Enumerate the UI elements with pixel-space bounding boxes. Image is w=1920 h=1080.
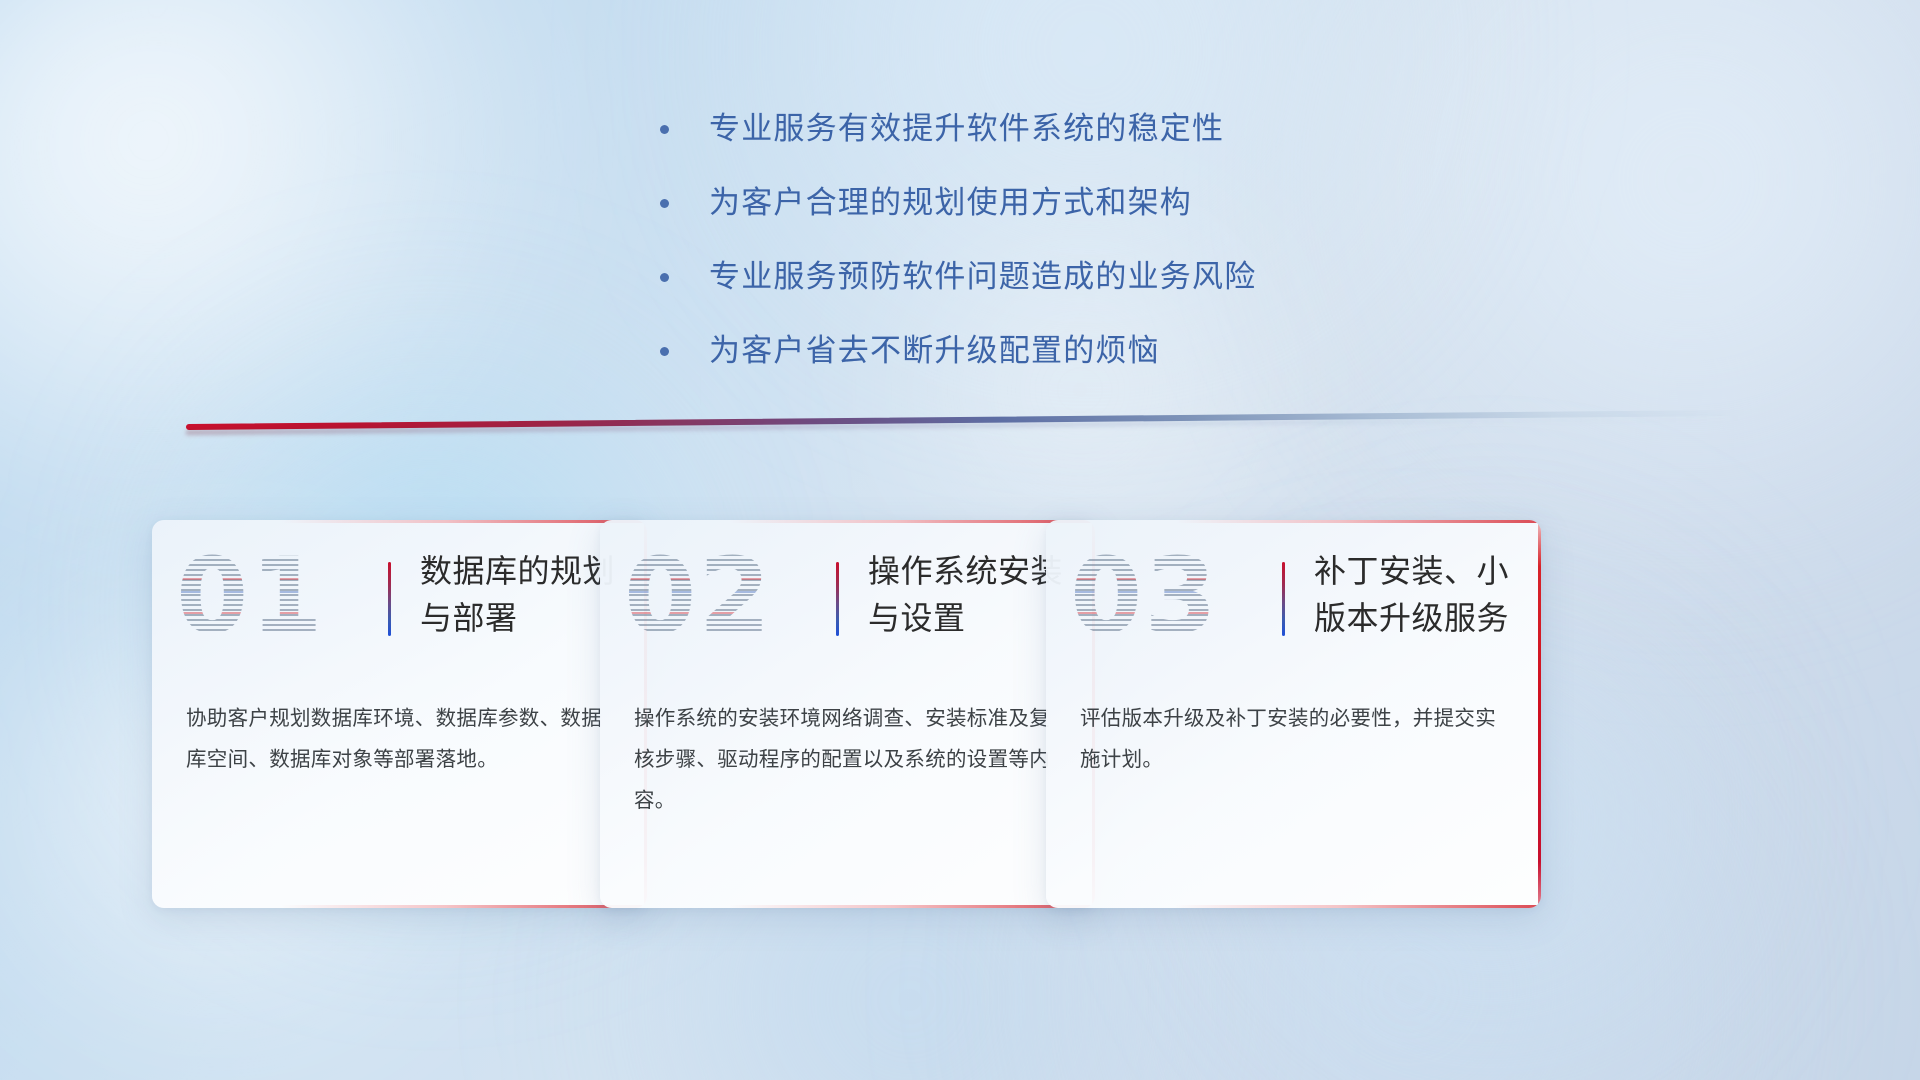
- card-accent-bottom: [281, 905, 647, 908]
- card-header: 01 01 数据库的规划与部署: [152, 520, 647, 682]
- bullet-label: 为客户省去不断升级配置的烦恼: [709, 330, 1160, 372]
- card-title: 补丁安装、小版本升级服务: [1314, 548, 1520, 642]
- service-card-03[interactable]: 03 03 补丁安装、小版本升级服务 评估版本升级及补丁安装的必要性，并提交实施…: [1046, 520, 1541, 908]
- list-item: 专业服务有效提升软件系统的稳定性: [660, 108, 1256, 150]
- bullet-dot-icon: [660, 347, 669, 356]
- card-description: 评估版本升级及补丁安装的必要性，并提交实施计划。: [1080, 698, 1508, 780]
- list-item: 为客户省去不断升级配置的烦恼: [660, 330, 1256, 372]
- bullet-label: 专业服务预防软件问题造成的业务风险: [709, 256, 1256, 298]
- card-accent-bottom: [729, 905, 1095, 908]
- list-item: 为客户合理的规划使用方式和架构: [660, 182, 1256, 224]
- card-header: 02 02 操作系统安装与设置: [600, 520, 1095, 682]
- card-title-separator: [1282, 562, 1285, 636]
- benefits-bullet-list: 专业服务有效提升软件系统的稳定性 为客户合理的规划使用方式和架构 专业服务预防软…: [660, 108, 1256, 404]
- bullet-dot-icon: [660, 199, 669, 208]
- bullet-dot-icon: [660, 125, 669, 134]
- service-card-group: 01 01 数据库的规划与部署 协助客户规划数据库环境、数据库参数、数据库空间、…: [0, 520, 1920, 940]
- service-card-02[interactable]: 02 02 操作系统安装与设置 操作系统的安装环境网络调查、安装标准及复核步骤、…: [600, 520, 1095, 908]
- card-header: 03 03 补丁安装、小版本升级服务: [1046, 520, 1541, 682]
- card-title-separator: [388, 562, 391, 636]
- card-title-separator: [836, 562, 839, 636]
- card-accent-bottom: [1175, 905, 1541, 908]
- card-number-watermark-tint: 01: [176, 544, 325, 648]
- service-card-01[interactable]: 01 01 数据库的规划与部署 协助客户规划数据库环境、数据库参数、数据库空间、…: [152, 520, 647, 908]
- card-title: 数据库的规划与部署: [420, 548, 626, 642]
- card-number-watermark-tint: 03: [1070, 544, 1219, 648]
- list-item: 专业服务预防软件问题造成的业务风险: [660, 256, 1256, 298]
- bullet-label: 为客户合理的规划使用方式和架构: [709, 182, 1192, 224]
- card-description: 协助客户规划数据库环境、数据库参数、数据库空间、数据库对象等部署落地。: [186, 698, 614, 780]
- bullet-label: 专业服务有效提升软件系统的稳定性: [709, 108, 1224, 150]
- card-title: 操作系统安装与设置: [868, 548, 1074, 642]
- card-description: 操作系统的安装环境网络调查、安装标准及复核步骤、驱动程序的配置以及系统的设置等内…: [634, 698, 1062, 821]
- card-number-watermark-tint: 02: [624, 544, 773, 648]
- bullet-dot-icon: [660, 273, 669, 282]
